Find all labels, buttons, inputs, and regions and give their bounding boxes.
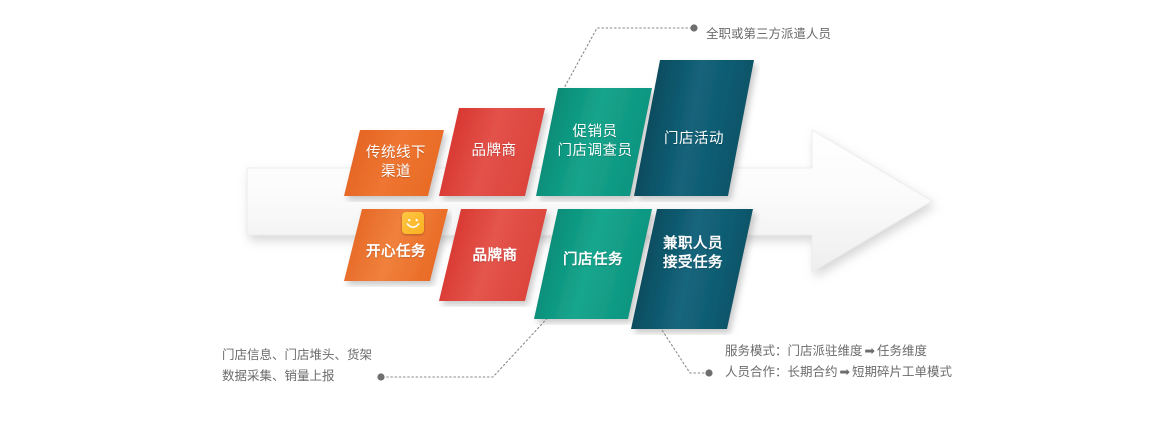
- right-arrow-icon: ➡: [838, 364, 852, 379]
- tile-label-line: 门店调查员: [558, 143, 633, 159]
- annotation-line-staff-cooperation: 人员合作：长期合约➡短期碎片工单模式: [725, 361, 952, 382]
- connector-dot-service-model: [705, 369, 712, 376]
- tile-label-line: 渠道: [381, 164, 411, 180]
- right-arrow-icon: ➡: [863, 343, 877, 358]
- annotation-to: 任务维度: [877, 343, 927, 358]
- annotation-to: 短期碎片工单模式: [852, 364, 952, 379]
- smiley-app-icon[interactable]: [402, 212, 424, 234]
- tile-label-line: 兼职人员: [663, 236, 723, 252]
- annotation-label: 服务模式：: [725, 343, 788, 358]
- tile-label-line: 品牌商: [472, 143, 517, 159]
- annotation-line: 数据采集、销量上报: [222, 365, 372, 386]
- tile-parttime-accept-task[interactable]: 兼职人员 接受任务: [625, 203, 761, 335]
- connector-dot-staffing: [690, 24, 697, 31]
- tile-label-line: 开心任务: [366, 244, 426, 260]
- tile-label-line: 门店任务: [563, 252, 623, 268]
- smiley-face-icon: [402, 212, 424, 234]
- annotation-data-collection-note: 门店信息、门店堆头、货架 数据采集、销量上报: [222, 344, 372, 386]
- annotation-from: 长期合约: [788, 364, 838, 379]
- annotation-line: 门店信息、门店堆头、货架: [222, 344, 372, 365]
- tile-label-line: 促销员: [573, 124, 618, 140]
- annotation-service-model-note: 服务模式：门店派驻维度➡任务维度 人员合作：长期合约➡短期碎片工单模式: [725, 340, 952, 382]
- tile-label-line: 门店活动: [664, 131, 724, 147]
- annotation-line-service-mode: 服务模式：门店派驻维度➡任务维度: [725, 340, 952, 361]
- annotation-label: 人员合作：: [725, 364, 788, 379]
- annotation-from: 门店派驻维度: [788, 343, 863, 358]
- diagram-canvas: 传统线下 渠道 品牌商: [0, 0, 1150, 430]
- tile-label-line: 品牌商: [473, 248, 518, 264]
- annotation-staffing-note: 全职或第三方派遣人员: [706, 23, 831, 44]
- connector-dot-data-collection: [377, 373, 384, 380]
- tile-label-line: 传统线下: [366, 145, 426, 161]
- annotation-line: 全职或第三方派遣人员: [706, 23, 831, 44]
- tile-label-line: 接受任务: [663, 255, 723, 271]
